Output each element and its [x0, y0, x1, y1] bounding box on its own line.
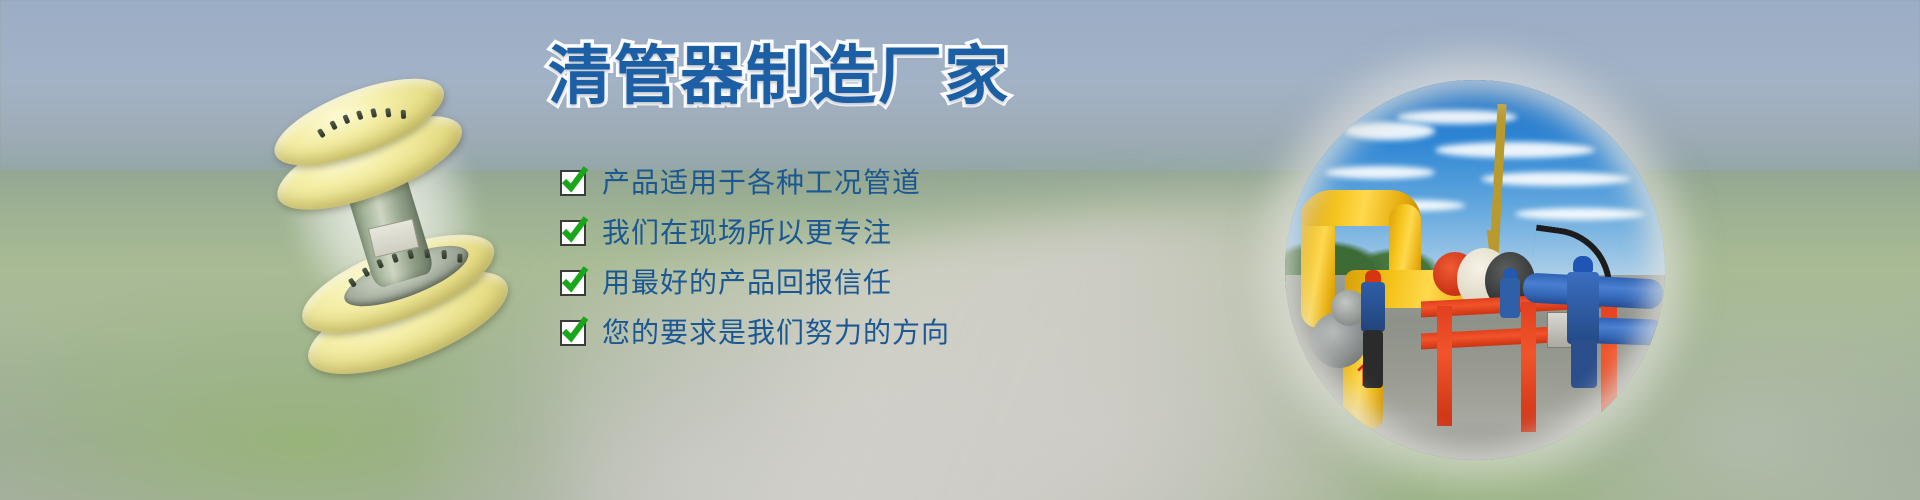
checkbox-checked-icon: [560, 270, 586, 296]
feature-label: 您的要求是我们努力的方向: [602, 319, 950, 347]
photo-worker-mid-body: [1500, 278, 1520, 318]
checkbox-checked-icon: [560, 320, 586, 346]
feature-label: 产品适用于各种工况管道: [602, 169, 921, 197]
feature-label: 我们在现场所以更专注: [602, 219, 892, 247]
photo-worker-right-legs: [1571, 340, 1597, 388]
photo-worker-right-body: [1567, 272, 1599, 344]
checkbox-checked-icon: [560, 170, 586, 196]
feature-label: 用最好的产品回报信任: [602, 269, 892, 297]
photo-worker-left-body: [1361, 282, 1385, 332]
photo-red-frame-leg-2: [1521, 302, 1536, 432]
list-item: 我们在现场所以更专注: [560, 208, 1120, 258]
pipeline-worksite-circle-photo: ↑: [1285, 80, 1665, 460]
photo-red-frame-leg-1: [1437, 306, 1452, 426]
feature-list: 产品适用于各种工况管道 我们在现场所以更专注 用最好的产品回报信任: [560, 158, 1120, 358]
list-item: 您的要求是我们努力的方向: [560, 308, 1120, 358]
photo-worker-left-legs: [1363, 330, 1383, 388]
photo-worker-right-helmet: [1573, 256, 1593, 272]
list-item: 用最好的产品回报信任: [560, 258, 1120, 308]
list-item: 产品适用于各种工况管道: [560, 158, 1120, 208]
promo-banner: 清管器制造厂家 产品适用于各种工况管道 我们在现场所以更专注: [0, 0, 1920, 500]
banner-headline: 清管器制造厂家: [548, 40, 1010, 116]
worksite-photo-content: ↑: [1285, 80, 1665, 460]
checkbox-checked-icon: [560, 220, 586, 246]
